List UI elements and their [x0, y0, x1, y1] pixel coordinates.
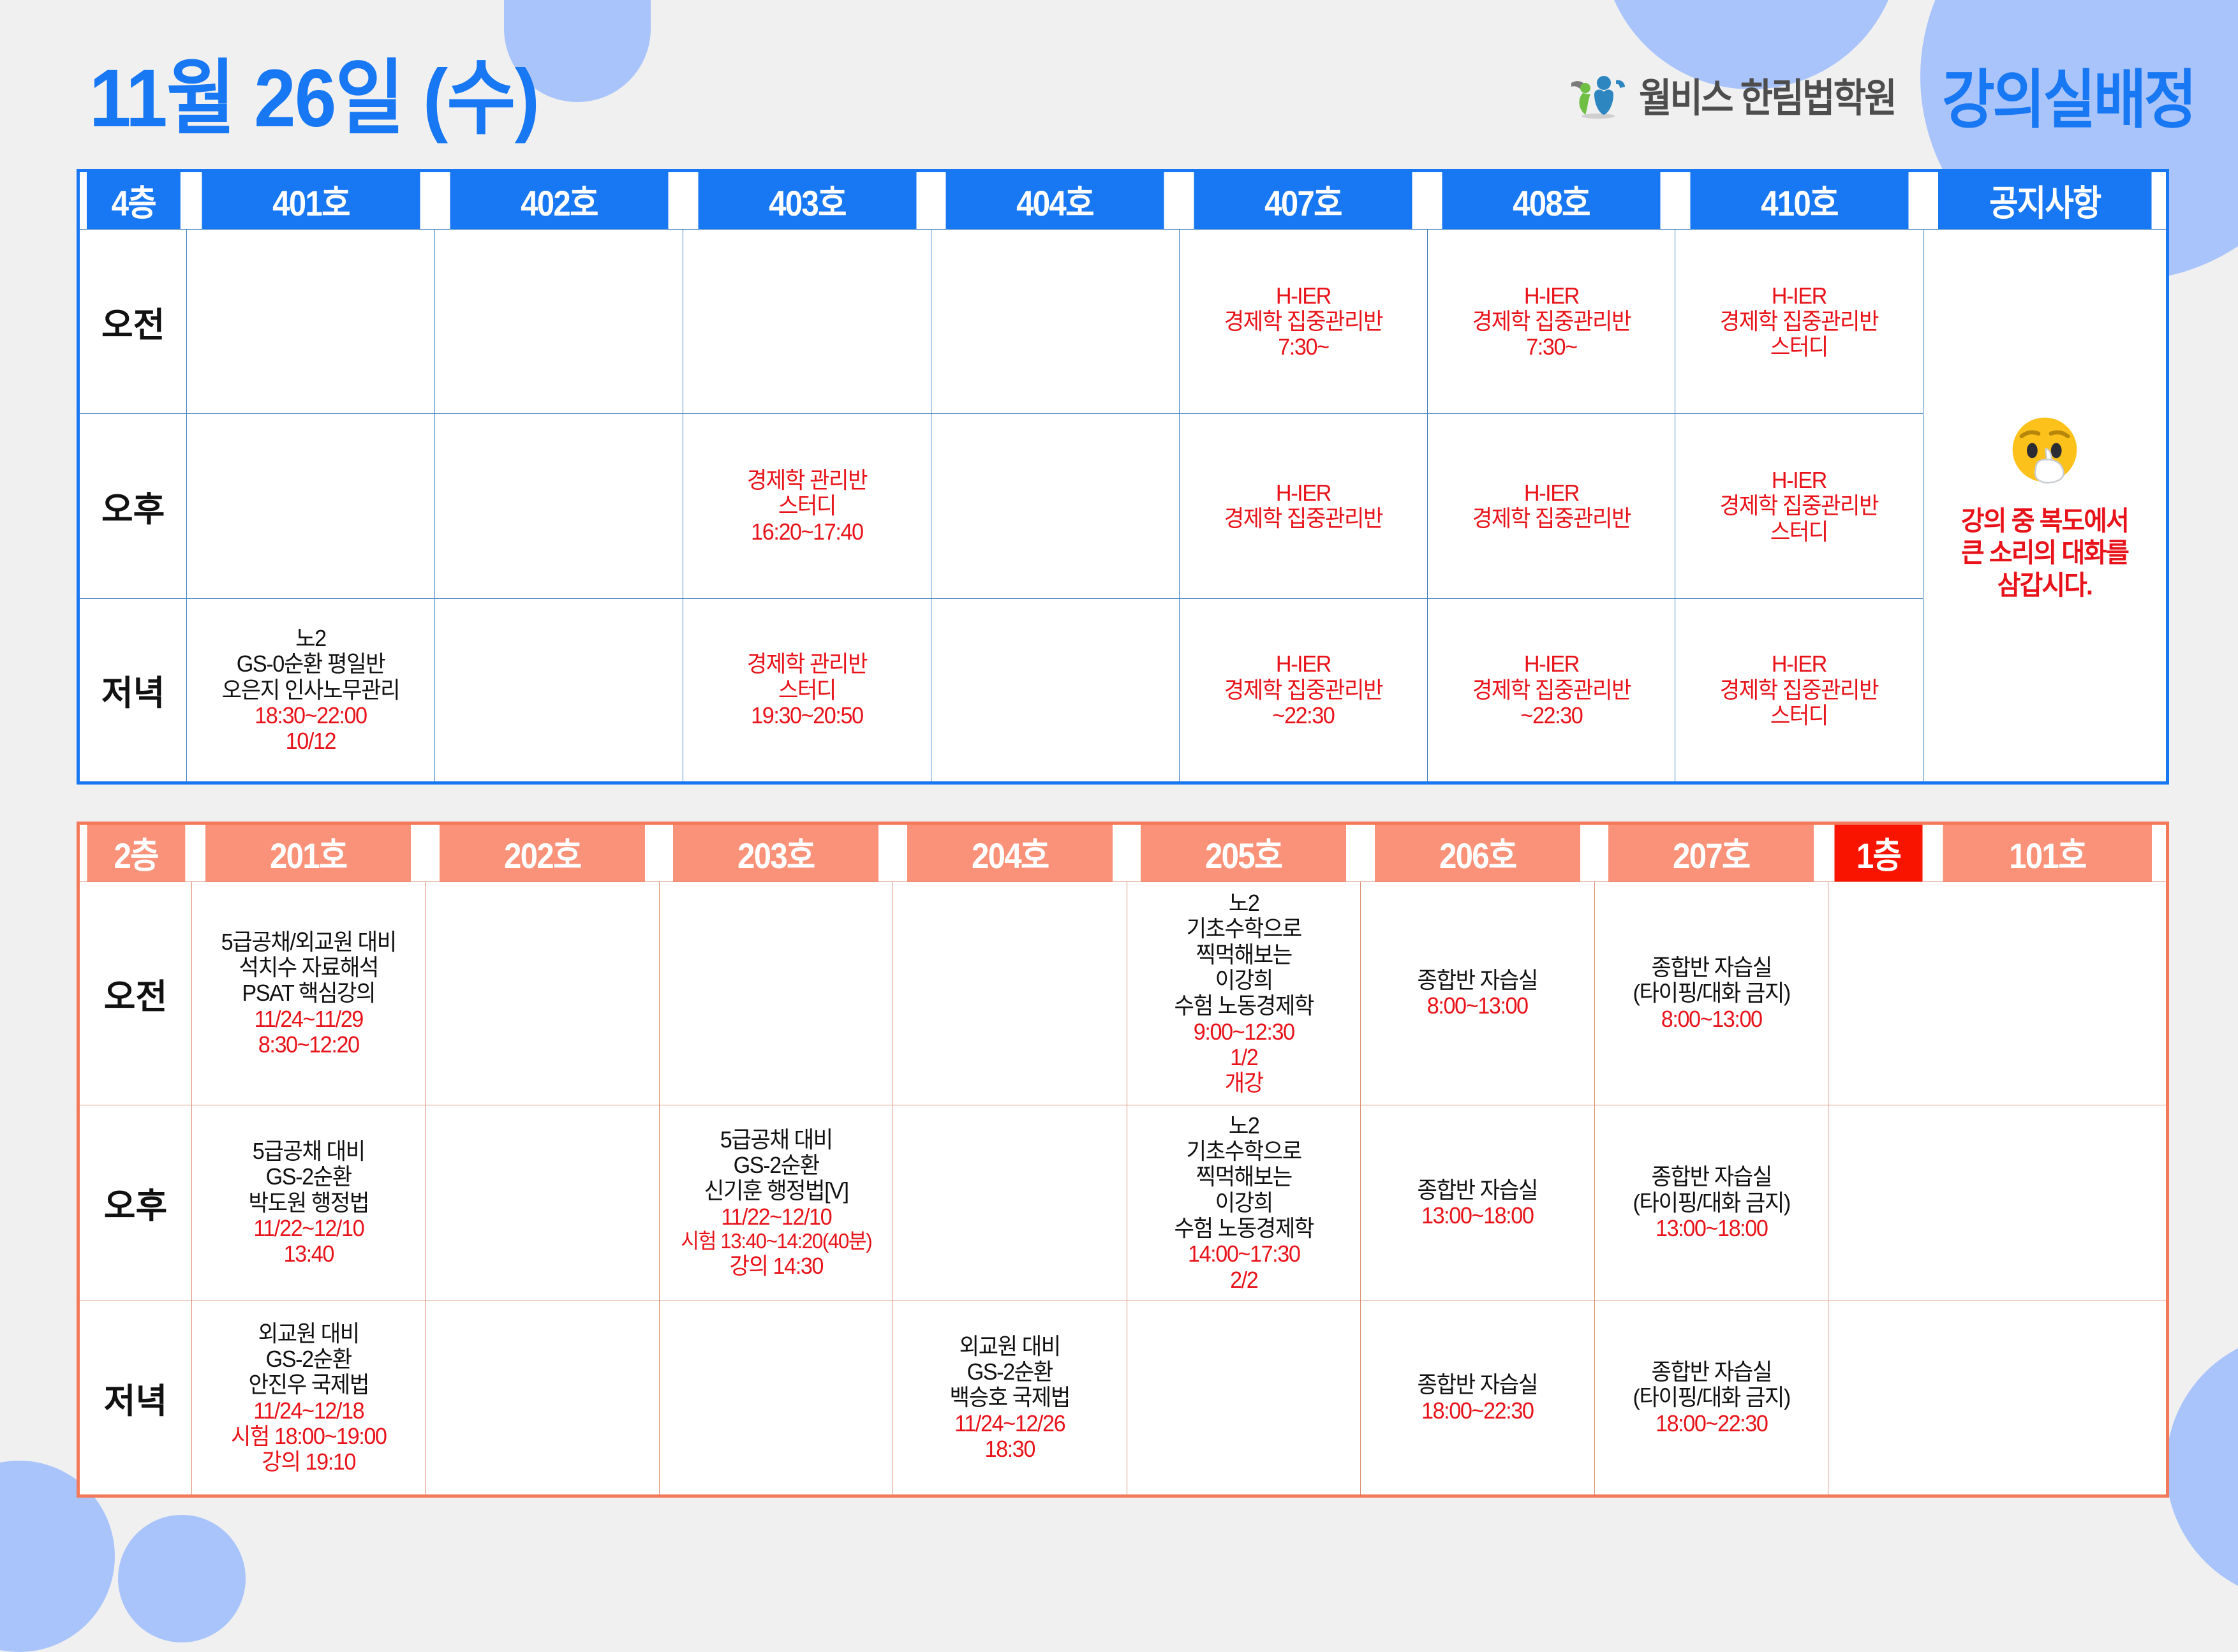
schedule-cell-204호[interactable]: 외교원 대비GS-2순환백승호 국제법11/24~12/2618:30 [893, 1301, 1127, 1496]
schedule-cell-202호[interactable] [426, 1105, 659, 1301]
schedule-cell-205호[interactable]: 노2기초수학으로찍먹해보는이강희수험 노동경제학14:00~17:302/2 [1127, 1105, 1360, 1301]
cell-line: 경제학 집중관리반 [1187, 309, 1419, 334]
floor4-schedule-table: 4층401호402호403호404호407호408호410호공지사항 오전H-I… [77, 169, 2169, 785]
cell-content: H-IER경제학 집중관리반7:30~ [1181, 283, 1426, 360]
schedule-cell-203호[interactable] [659, 1301, 893, 1496]
cell-line: 오은지 인사노무관리 [195, 677, 427, 703]
shushing-face-emoji [2000, 409, 2089, 499]
schedule-cell-203호[interactable] [659, 882, 893, 1105]
cell-content: H-IER경제학 집중관리반스터디 [1677, 651, 1922, 728]
cell-line: 강의 14:30 [667, 1253, 886, 1279]
cell-line: 18:30~22:00 [195, 703, 427, 728]
cell-content: H-IER경제학 집중관리반스터디 [1677, 468, 1922, 545]
schedule-cell-204호[interactable] [893, 1105, 1127, 1301]
floor2-column-header-205호[interactable]: 205호 [1141, 823, 1346, 882]
schedule-cell-407호[interactable]: H-IER경제학 집중관리반~22:30 [1179, 598, 1427, 783]
cell-content: 종합반 자습실18:00~22:30 [1362, 1372, 1592, 1424]
cell-line: 종합반 자습실 [1368, 1372, 1587, 1398]
cell-content: 종합반 자습실(타이핑/대화 금지)18:00~22:30 [1596, 1359, 1827, 1436]
cell-line: (타이핑/대화 금지) [1602, 980, 1821, 1006]
cell-line: 종합반 자습실 [1368, 1177, 1587, 1203]
cell-line: 경제학 관리반 [691, 468, 924, 493]
schedule-cell-408호[interactable]: H-IER경제학 집중관리반7:30~ [1427, 230, 1675, 414]
cell-line: 11/22~12/10 [199, 1216, 418, 1241]
cell-line: 5급공채 대비 [667, 1127, 886, 1153]
cell-line: 신기훈 행정법[V] [667, 1178, 886, 1204]
schedule-cell-404호[interactable] [931, 230, 1179, 414]
wavis-people-logo-icon [1569, 69, 1627, 120]
schedule-cell-201호[interactable]: 외교원 대비GS-2순환안진우 국제법11/24~12/18시험 18:00~1… [191, 1301, 425, 1496]
schedule-cell-101호[interactable] [1828, 882, 2168, 1105]
schedule-cell-407호[interactable]: H-IER경제학 집중관리반7:30~ [1179, 230, 1427, 414]
cell-line: 5급공채 대비 [199, 1139, 418, 1164]
row-label-오전: 오전 [78, 882, 192, 1105]
cell-line: 종합반 자습실 [1368, 968, 1587, 993]
schedule-cell-205호[interactable]: 노2기초수학으로찍먹해보는이강희수험 노동경제학9:00~12:301/2개강 [1127, 882, 1360, 1105]
cell-line: 외교원 대비 [199, 1321, 418, 1346]
cell-content: 종합반 자습실8:00~13:00 [1362, 968, 1592, 1019]
cell-line: 2/2 [1134, 1267, 1353, 1293]
notice-line: 강의 중 복도에서 [1931, 505, 2159, 537]
cell-line: 안진우 국제법 [199, 1372, 418, 1398]
cell-line: 찍먹해보는 [1134, 1164, 1353, 1190]
row-label-저녁: 저녁 [78, 598, 187, 783]
cell-line: 스터디 [691, 493, 924, 519]
schedule-cell-207호[interactable]: 종합반 자습실(타이핑/대화 금지)13:00~18:00 [1594, 1105, 1828, 1301]
cell-line: 16:20~17:40 [691, 519, 924, 545]
cell-line: 8:30~12:20 [199, 1032, 418, 1058]
cell-line: 경제학 집중관리반 [1683, 309, 1916, 334]
cell-content: 노2기초수학으로찍먹해보는이강희수험 노동경제학14:00~17:302/2 [1129, 1113, 1359, 1293]
page-subtitle: 강의실배정 [1942, 48, 2195, 140]
cell-line: 7:30~ [1435, 334, 1668, 360]
cell-content: H-IER경제학 집중관리반스터디 [1677, 283, 1922, 360]
classroom-schedule-page: 11월 26일 (수) 월비스 한림법학원 강의실배정 4층401호402호40… [0, 0, 2238, 1582]
table-row: 오전5급공채/외교원 대비석치수 자료해석PSAT 핵심강의11/24~11/2… [78, 882, 2168, 1105]
cell-line: 노2 [1134, 890, 1353, 916]
cell-line: 11/24~12/26 [900, 1411, 1119, 1436]
cell-line: 14:00~17:30 [1134, 1241, 1353, 1267]
cell-line: GS-2순환 [199, 1346, 418, 1372]
cell-line: 종합반 자습실 [1602, 955, 1821, 980]
schedule-cell-101호[interactable] [1828, 1105, 2168, 1301]
schedule-cell-202호[interactable] [426, 1301, 659, 1496]
cell-line: GS-2순환 [667, 1153, 886, 1178]
cell-line: 노2 [1134, 1113, 1353, 1139]
table-row: 오전H-IER경제학 집중관리반7:30~H-IER경제학 집중관리반7:30~… [78, 230, 2168, 414]
cell-line: ~22:30 [1187, 703, 1419, 728]
row-label-오후: 오후 [78, 1105, 192, 1301]
cell-content: H-IER경제학 집중관리반~22:30 [1429, 651, 1674, 728]
notice-line: 큰 소리의 대화를 [1931, 537, 2159, 569]
schedule-cell-401호[interactable] [187, 414, 435, 598]
cell-content: 5급공채 대비GS-2순환박도원 행정법11/22~12/1013:40 [193, 1139, 424, 1267]
schedule-cell-404호[interactable] [931, 414, 1179, 598]
schedule-cell-408호[interactable]: H-IER경제학 집중관리반~22:30 [1427, 598, 1675, 783]
cell-line: 경제학 집중관리반 [1683, 677, 1916, 703]
floor2-column-header-2층[interactable]: 2층 [85, 823, 185, 882]
schedule-cell-202호[interactable] [426, 882, 659, 1105]
cell-line: 8:00~13:00 [1368, 993, 1587, 1019]
schedule-cell-402호[interactable] [435, 414, 683, 598]
floor4-column-header-408호[interactable]: 408호 [1442, 171, 1660, 230]
schedule-cell-403호[interactable] [683, 230, 931, 414]
floor4-column-header-407호[interactable]: 407호 [1194, 171, 1412, 230]
cell-content: 종합반 자습실(타이핑/대화 금지)8:00~13:00 [1596, 955, 1827, 1032]
floor2-column-header-202호[interactable]: 202호 [440, 823, 645, 882]
cell-content: 노2GS-0순환 평일반오은지 인사노무관리18:30~22:0010/12 [188, 626, 433, 755]
cell-line: GS-2순환 [900, 1359, 1119, 1385]
cell-line: GS-0순환 평일반 [195, 651, 427, 677]
cell-line: 13:40 [199, 1241, 418, 1267]
schedule-cell-206호[interactable]: 종합반 자습실13:00~18:00 [1361, 1105, 1594, 1301]
cell-line: H-IER [1187, 651, 1419, 677]
floor4-column-header-403호[interactable]: 403호 [698, 171, 916, 230]
cell-line: 종합반 자습실 [1602, 1164, 1821, 1190]
cell-line: H-IER [1187, 283, 1419, 309]
table-row: 저녁외교원 대비GS-2순환안진우 국제법11/24~12/18시험 18:00… [78, 1301, 2168, 1496]
cell-line: 경제학 집중관리반 [1683, 493, 1916, 519]
cell-line: 석치수 자료해석 [199, 955, 418, 980]
cell-line: H-IER [1683, 468, 1916, 493]
cell-line: 1/2 [1134, 1045, 1353, 1070]
page-header: 11월 26일 (수) 월비스 한림법학원 강의실배정 [0, 0, 2238, 163]
floor2-column-header-204호[interactable]: 204호 [907, 823, 1113, 882]
cell-line: 이강희 [1134, 968, 1353, 993]
cell-line: (타이핑/대화 금지) [1602, 1385, 1821, 1410]
schedule-cell-410호[interactable]: H-IER경제학 집중관리반스터디 [1675, 230, 1923, 414]
cell-line: 19:30~20:50 [691, 703, 924, 728]
cell-line: 경제학 집중관리반 [1435, 506, 1668, 531]
cell-line: 이강희 [1134, 1190, 1353, 1216]
row-label-저녁: 저녁 [78, 1301, 192, 1496]
schedule-cell-402호[interactable] [435, 230, 683, 414]
cell-line: 외교원 대비 [900, 1334, 1119, 1359]
cell-line: 기초수학으로 [1134, 916, 1353, 941]
floor4-column-header-410호[interactable]: 410호 [1690, 171, 1908, 230]
cell-line: H-IER [1683, 283, 1916, 309]
cell-line: 경제학 집중관리반 [1187, 677, 1419, 703]
floor2-column-header-203호[interactable]: 203호 [673, 823, 878, 882]
schedule-cell-201호[interactable]: 5급공채/외교원 대비석치수 자료해석PSAT 핵심강의11/24~11/298… [191, 882, 425, 1105]
notice-text: 강의 중 복도에서큰 소리의 대화를삼갑시다. [1925, 505, 2165, 601]
cell-line: 경제학 집중관리반 [1187, 506, 1419, 531]
cell-line: 11/24~12/18 [199, 1398, 418, 1424]
cell-line: 11/24~11/29 [199, 1007, 418, 1032]
floor2-column-header-1층[interactable]: 1층 [1834, 823, 1922, 882]
row-label-오전: 오전 [78, 230, 187, 414]
cell-line: 스터디 [1683, 703, 1916, 728]
schedule-cell-201호[interactable]: 5급공채 대비GS-2순환박도원 행정법11/22~12/1013:40 [191, 1105, 425, 1301]
cell-line: 7:30~ [1187, 334, 1419, 360]
floor2-schedule-table: 2층201호202호203호204호205호206호207호1층101호 오전5… [77, 822, 2169, 1498]
cell-line: 시험 13:40~14:20(40분) [667, 1230, 886, 1253]
cell-line: 찍먹해보는 [1134, 942, 1353, 968]
schedule-cell-206호[interactable]: 종합반 자습실18:00~22:30 [1361, 1301, 1594, 1496]
cell-content: 외교원 대비GS-2순환안진우 국제법11/24~12/18시험 18:00~1… [193, 1321, 424, 1475]
cell-line: 경제학 관리반 [691, 651, 924, 677]
cell-content: 외교원 대비GS-2순환백승호 국제법11/24~12/2618:30 [894, 1334, 1125, 1463]
cell-content: 5급공채 대비GS-2순환신기훈 행정법[V]11/22~12/10시험 13:… [661, 1127, 891, 1280]
floor2-column-header-207호[interactable]: 207호 [1608, 823, 1814, 882]
cell-content: 종합반 자습실(타이핑/대화 금지)13:00~18:00 [1596, 1164, 1827, 1241]
cell-line: 스터디 [1683, 519, 1916, 545]
cell-line: 9:00~12:30 [1134, 1019, 1353, 1045]
schedule-cell-207호[interactable]: 종합반 자습실(타이핑/대화 금지)8:00~13:00 [1594, 882, 1828, 1105]
schedule-cell-410호[interactable]: H-IER경제학 집중관리반스터디 [1675, 598, 1923, 783]
cell-content: 5급공채/외교원 대비석치수 자료해석PSAT 핵심강의11/24~11/298… [193, 929, 424, 1058]
cell-line: H-IER [1435, 480, 1668, 506]
cell-line: 경제학 집중관리반 [1435, 309, 1668, 334]
cell-line: H-IER [1683, 651, 1916, 677]
cell-line: 스터디 [691, 677, 924, 703]
schedule-cell-204호[interactable] [893, 882, 1127, 1105]
schedule-cell-403호[interactable]: 경제학 관리반스터디19:30~20:50 [683, 598, 931, 783]
schedule-cell-205호[interactable] [1127, 1301, 1360, 1496]
cell-line: H-IER [1187, 480, 1419, 506]
cell-line: GS-2순환 [199, 1164, 418, 1190]
cell-line: 백승호 국제법 [900, 1385, 1119, 1410]
cell-line: 스터디 [1683, 334, 1916, 360]
floor4-column-header-404호[interactable]: 404호 [946, 171, 1164, 230]
cell-content: H-IER경제학 집중관리반7:30~ [1429, 283, 1674, 360]
brand-block: 월비스 한림법학원 강의실배정 [1569, 48, 2223, 140]
schedule-cell-206호[interactable]: 종합반 자습실8:00~13:00 [1361, 882, 1594, 1105]
table-row: 오후경제학 관리반스터디16:20~17:40H-IER경제학 집중관리반H-I… [78, 414, 2168, 598]
cell-content: H-IER경제학 집중관리반 [1181, 480, 1426, 532]
brand-name: 월비스 한림법학원 [1639, 66, 1895, 123]
floor4-column-header-401호[interactable]: 401호 [202, 171, 420, 230]
cell-line: 시험 18:00~19:00 [199, 1424, 418, 1449]
cell-line: 경제학 집중관리반 [1435, 677, 1668, 703]
cell-line: 5급공채/외교원 대비 [199, 929, 418, 955]
cell-line: ~22:30 [1435, 703, 1668, 728]
table-row: 오후5급공채 대비GS-2순환박도원 행정법11/22~12/1013:405급… [78, 1105, 2168, 1301]
row-label-오후: 오후 [78, 414, 187, 598]
cell-line: 노2 [195, 626, 427, 651]
floor4-column-header-4층[interactable]: 4층 [85, 171, 181, 230]
cell-line: 10/12 [195, 728, 427, 754]
cell-content: 경제학 관리반스터디19:30~20:50 [685, 651, 930, 728]
cell-line: 13:00~18:00 [1368, 1203, 1587, 1228]
cell-content: 노2기초수학으로찍먹해보는이강희수험 노동경제학9:00~12:301/2개강 [1129, 890, 1359, 1096]
floor2-column-header-201호[interactable]: 201호 [205, 823, 411, 882]
cell-line: H-IER [1435, 283, 1668, 309]
cell-line: 18:00~22:30 [1368, 1398, 1587, 1424]
schedule-cell-101호[interactable] [1828, 1301, 2168, 1496]
cell-line: 박도원 행정법 [199, 1190, 418, 1216]
schedule-cell-410호[interactable]: H-IER경제학 집중관리반스터디 [1675, 414, 1923, 598]
cell-line: 13:00~18:00 [1602, 1216, 1821, 1241]
floor2-column-header-206호[interactable]: 206호 [1375, 823, 1580, 882]
cell-line: 개강 [1134, 1070, 1353, 1096]
schedule-cell-407호[interactable]: H-IER경제학 집중관리반 [1179, 414, 1427, 598]
schedule-cell-401호[interactable]: 노2GS-0순환 평일반오은지 인사노무관리18:30~22:0010/12 [187, 598, 435, 783]
floor4-header-row: 4층401호402호403호404호407호408호410호공지사항 [78, 171, 2168, 230]
cell-content: 경제학 관리반스터디16:20~17:40 [685, 468, 930, 545]
floor2-column-header-101호[interactable]: 101호 [1943, 823, 2153, 882]
schedule-cell-203호[interactable]: 5급공채 대비GS-2순환신기훈 행정법[V]11/22~12/10시험 13:… [659, 1105, 893, 1301]
cell-line: 수험 노동경제학 [1134, 993, 1353, 1019]
cell-line: PSAT 핵심강의 [199, 980, 418, 1006]
schedule-cell-408호[interactable]: H-IER경제학 집중관리반 [1427, 414, 1675, 598]
cell-line: 수험 노동경제학 [1134, 1216, 1353, 1241]
schedule-cell-403호[interactable]: 경제학 관리반스터디16:20~17:40 [683, 414, 931, 598]
cell-line: 11/22~12/10 [667, 1204, 886, 1230]
cell-line: 18:00~22:30 [1602, 1411, 1821, 1436]
schedule-cell-402호[interactable] [435, 598, 683, 783]
schedule-cell-401호[interactable] [187, 230, 435, 414]
notice-line: 삼갑시다. [1931, 570, 2159, 601]
schedule-cell-404호[interactable] [931, 598, 1179, 783]
floor4-column-header-402호[interactable]: 402호 [450, 171, 668, 230]
page-title: 11월 26일 (수) [89, 32, 538, 150]
cell-line: H-IER [1435, 651, 1668, 677]
cell-content: H-IER경제학 집중관리반~22:30 [1181, 651, 1426, 728]
cell-line: 강의 19:10 [199, 1449, 418, 1475]
cell-line: 18:30 [900, 1436, 1119, 1462]
schedule-cell-207호[interactable]: 종합반 자습실(타이핑/대화 금지)18:00~22:30 [1594, 1301, 1828, 1496]
notice-cell: 강의 중 복도에서큰 소리의 대화를삼갑시다. [1923, 230, 2168, 783]
cell-content: H-IER경제학 집중관리반 [1429, 480, 1674, 532]
cell-line: (타이핑/대화 금지) [1602, 1190, 1821, 1216]
floor4-column-header-공지사항[interactable]: 공지사항 [1938, 171, 2153, 230]
cell-line: 8:00~13:00 [1602, 1007, 1821, 1032]
cell-line: 기초수학으로 [1134, 1139, 1353, 1164]
cell-content: 종합반 자습실13:00~18:00 [1362, 1177, 1592, 1229]
floor2-header-row: 2층201호202호203호204호205호206호207호1층101호 [78, 823, 2168, 882]
table-row: 저녁노2GS-0순환 평일반오은지 인사노무관리18:30~22:0010/12… [78, 598, 2168, 783]
cell-line: 종합반 자습실 [1602, 1359, 1821, 1385]
